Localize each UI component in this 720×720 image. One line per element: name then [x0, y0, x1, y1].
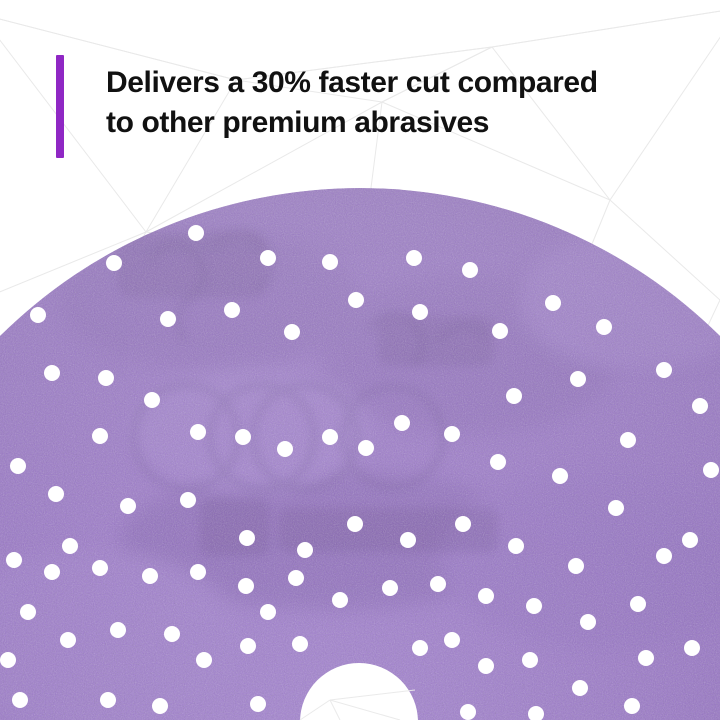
product-feature-card: Delivers a 30% faster cut compared to ot… [0, 0, 720, 720]
headline-text: Delivers a 30% faster cut compared to ot… [106, 55, 598, 143]
headline-line-1: Delivers a 30% faster cut compared [106, 63, 598, 103]
accent-bar [56, 55, 64, 158]
headline-line-2: to other premium abrasives [106, 103, 598, 143]
headline-block: Delivers a 30% faster cut compared to ot… [56, 55, 598, 158]
